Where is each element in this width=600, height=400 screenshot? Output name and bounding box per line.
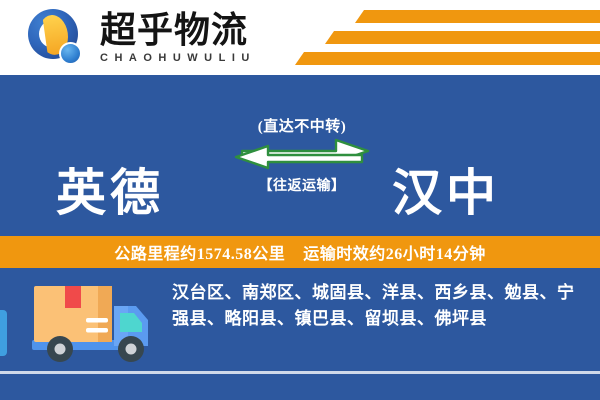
side-accent-bar (0, 310, 7, 356)
route-info-bar: 公路里程约1574.58公里 运输时效约26小时14分钟 (0, 236, 600, 268)
circle-crescent-logo-icon (26, 7, 88, 69)
stripe-1 (355, 10, 600, 23)
covered-districts-list: 汉台区、南郑区、城固县、洋县、西乡县、勉县、宁强县、略阳县、镇巴县、留坝县、佛坪… (172, 280, 578, 333)
decorative-stripes (270, 10, 600, 68)
distance-label: 公路里程约1574.58公里 (114, 240, 285, 264)
stripe-2 (325, 31, 600, 44)
origin-city: 英德 (56, 168, 164, 218)
brand-name-cn: 超乎物流 (100, 12, 256, 50)
duration-label: 运输时效约26小时14分钟 (303, 240, 486, 264)
stripe-3 (295, 52, 600, 65)
round-trip-note: 【往返运输】 (228, 175, 376, 195)
destination-city: 汉中 (392, 168, 500, 218)
bidirectional-arrow-icon (228, 138, 376, 172)
brand-text: 超乎物流 CHAOHUWULIU (100, 12, 256, 65)
route-arrow-block: (直达不中转) 【往返运输】 (228, 115, 376, 195)
route-panel: 英德 (直达不中转) 【往返运输】 汉中 (0, 75, 600, 236)
logistics-route-poster: 超乎物流 CHAOHUWULIU 英德 (直达不中转) (0, 0, 600, 400)
direct-service-note: (直达不中转) (228, 115, 376, 136)
brand-name-en: CHAOHUWULIU (100, 52, 256, 64)
logo-dot-shape (59, 42, 82, 65)
coverage-panel: 汉台区、南郑区、城固县、洋县、西乡县、勉县、宁强县、略阳县、镇巴县、留坝县、佛坪… (0, 268, 600, 400)
bottom-divider (0, 371, 600, 374)
delivery-truck-icon (28, 280, 160, 372)
header: 超乎物流 CHAOHUWULIU (0, 0, 600, 75)
brand-logo: 超乎物流 CHAOHUWULIU (26, 5, 256, 71)
